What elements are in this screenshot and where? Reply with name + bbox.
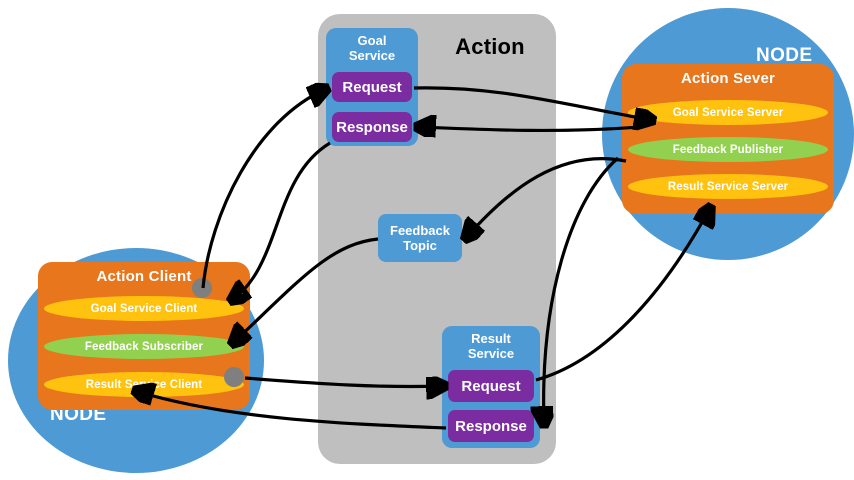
arrow-result-request-to-server	[536, 208, 710, 380]
arrow-result-server-to-response	[544, 158, 618, 424]
arrow-feedback-topic-to-subscriber	[233, 239, 378, 343]
diagram-canvas: Action NODE Action Sever Goal Service Se…	[0, 0, 854, 480]
arrow-goal-request-to-server	[414, 88, 652, 120]
arrow-feedback-publisher-to-topic	[466, 159, 626, 238]
connection-arrows	[0, 0, 854, 480]
arrow-result-response-to-client	[136, 391, 446, 428]
arrow-goal-response-to-client	[232, 143, 330, 300]
arrow-client-to-result-request	[245, 378, 444, 387]
arrow-goal-server-to-response	[418, 127, 640, 130]
